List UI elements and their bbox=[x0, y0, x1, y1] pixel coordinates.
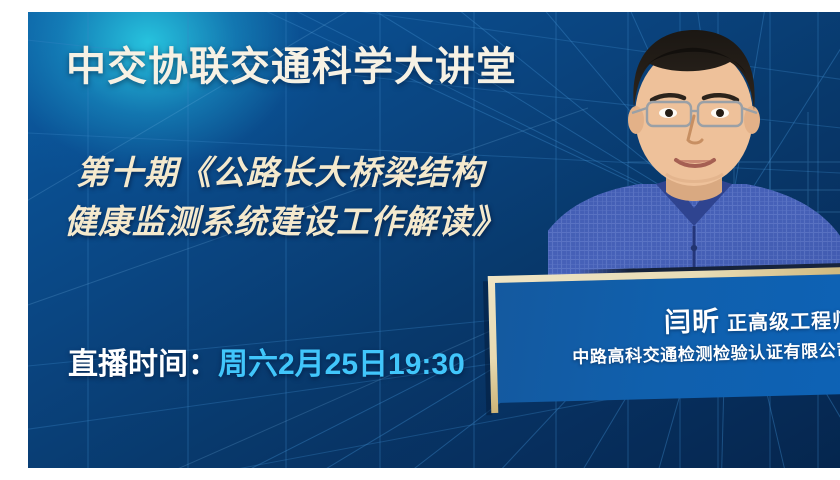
live-time-label: 直播时间： bbox=[68, 348, 218, 381]
subtitle-line-2: 健康监测系统建设工作解读》 bbox=[64, 197, 596, 246]
live-time-value: 周六2月25日19:30 bbox=[218, 348, 465, 381]
subtitle-line-1: 第十期《公路长大桥梁结构 bbox=[76, 148, 596, 197]
live-time-row: 直播时间：周六2月25日19:30 bbox=[68, 339, 465, 383]
speaker-name: 闫昕 bbox=[664, 306, 721, 337]
speaker-portrait-photo bbox=[548, 12, 840, 278]
portrait-illustration bbox=[548, 12, 840, 278]
page-title: 中交协联交通科学大讲堂 bbox=[66, 34, 517, 92]
speaker-job-title: 正高级工程师 bbox=[727, 310, 840, 335]
speaker-info-panel: 闫昕正高级工程师 中路高科交通检测检验认证有限公司 bbox=[494, 274, 840, 403]
poster-canvas: 中交协联交通科学大讲堂 第十期《公路长大桥梁结构 健康监测系统建设工作解读》 直… bbox=[28, 12, 840, 468]
session-subtitle: 第十期《公路长大桥梁结构 健康监测系统建设工作解读》 bbox=[76, 148, 596, 246]
